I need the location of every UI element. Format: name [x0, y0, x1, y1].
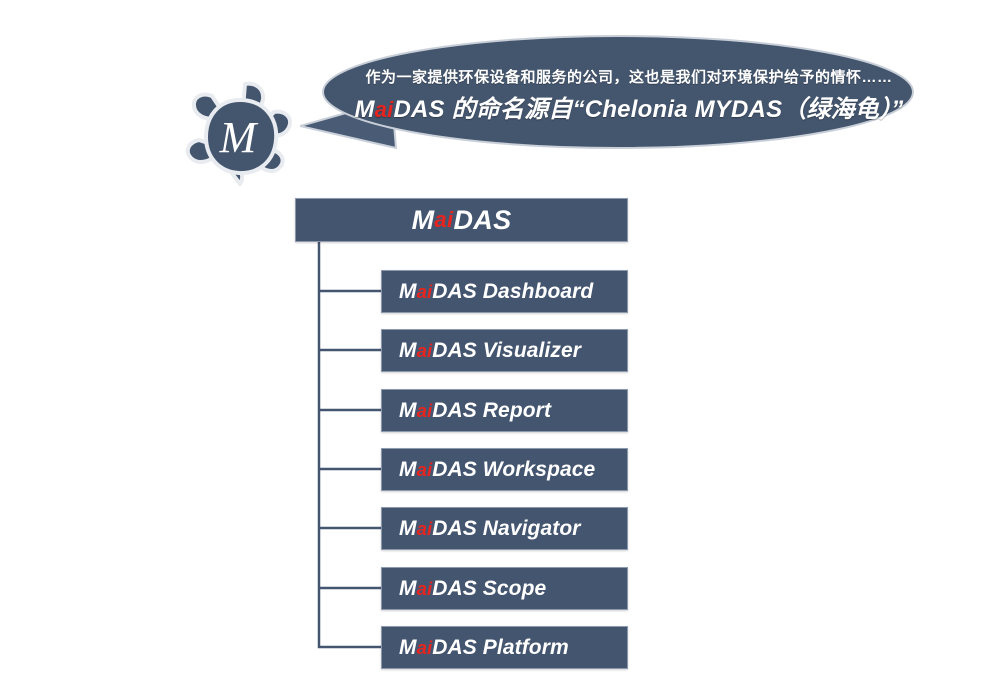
- slide-canvas: 作为一家提供环保设备和服务的公司，这也是我们对环境保护给予的情怀…… MaiDA…: [0, 0, 998, 697]
- green-sea-turtle-logo: M: [182, 78, 302, 190]
- node-5-prefix: M: [399, 517, 417, 541]
- node-maidas-platform[interactable]: MaiDAS Platform: [381, 626, 628, 669]
- node-6-prefix: M: [399, 577, 417, 601]
- turtle-monogram-m: M: [219, 113, 259, 162]
- speech-bubble-shape: [300, 30, 920, 160]
- node-3-suffix: DAS Report: [432, 399, 551, 423]
- node-root-prefix: M: [412, 205, 435, 236]
- node-1-suffix: DAS Dashboard: [432, 280, 593, 304]
- node-7-suffix: DAS Platform: [432, 636, 569, 660]
- node-2-suffix: DAS Visualizer: [432, 339, 581, 363]
- node-1-accent: ai: [417, 281, 433, 303]
- node-root-accent: ai: [434, 207, 453, 233]
- node-7-prefix: M: [399, 636, 417, 660]
- node-maidas-workspace[interactable]: MaiDAS Workspace: [381, 448, 628, 491]
- speech-bubble-body: [323, 36, 913, 148]
- connector-trunk: [319, 242, 381, 647]
- node-root-suffix: DAS: [453, 205, 511, 236]
- node-5-suffix: DAS Navigator: [432, 517, 580, 541]
- node-6-accent: ai: [417, 578, 433, 600]
- node-root[interactable]: MaiDAS: [295, 198, 628, 242]
- node-6-suffix: DAS Scope: [432, 577, 546, 601]
- node-4-prefix: M: [399, 458, 417, 482]
- node-2-prefix: M: [399, 339, 417, 363]
- node-maidas-scope[interactable]: MaiDAS Scope: [381, 567, 628, 610]
- node-3-prefix: M: [399, 399, 417, 423]
- node-maidas-navigator[interactable]: MaiDAS Navigator: [381, 507, 628, 550]
- node-maidas-visualizer[interactable]: MaiDAS Visualizer: [381, 329, 628, 372]
- node-maidas-dashboard[interactable]: MaiDAS Dashboard: [381, 270, 628, 313]
- node-7-accent: ai: [417, 637, 433, 659]
- node-4-accent: ai: [417, 459, 433, 481]
- speech-bubble: 作为一家提供环保设备和服务的公司，这也是我们对环境保护给予的情怀…… MaiDA…: [300, 30, 920, 160]
- node-1-prefix: M: [399, 280, 417, 304]
- node-5-accent: ai: [417, 518, 433, 540]
- node-maidas-report[interactable]: MaiDAS Report: [381, 389, 628, 432]
- node-3-accent: ai: [417, 400, 433, 422]
- node-4-suffix: DAS Workspace: [432, 458, 595, 482]
- node-2-accent: ai: [417, 340, 433, 362]
